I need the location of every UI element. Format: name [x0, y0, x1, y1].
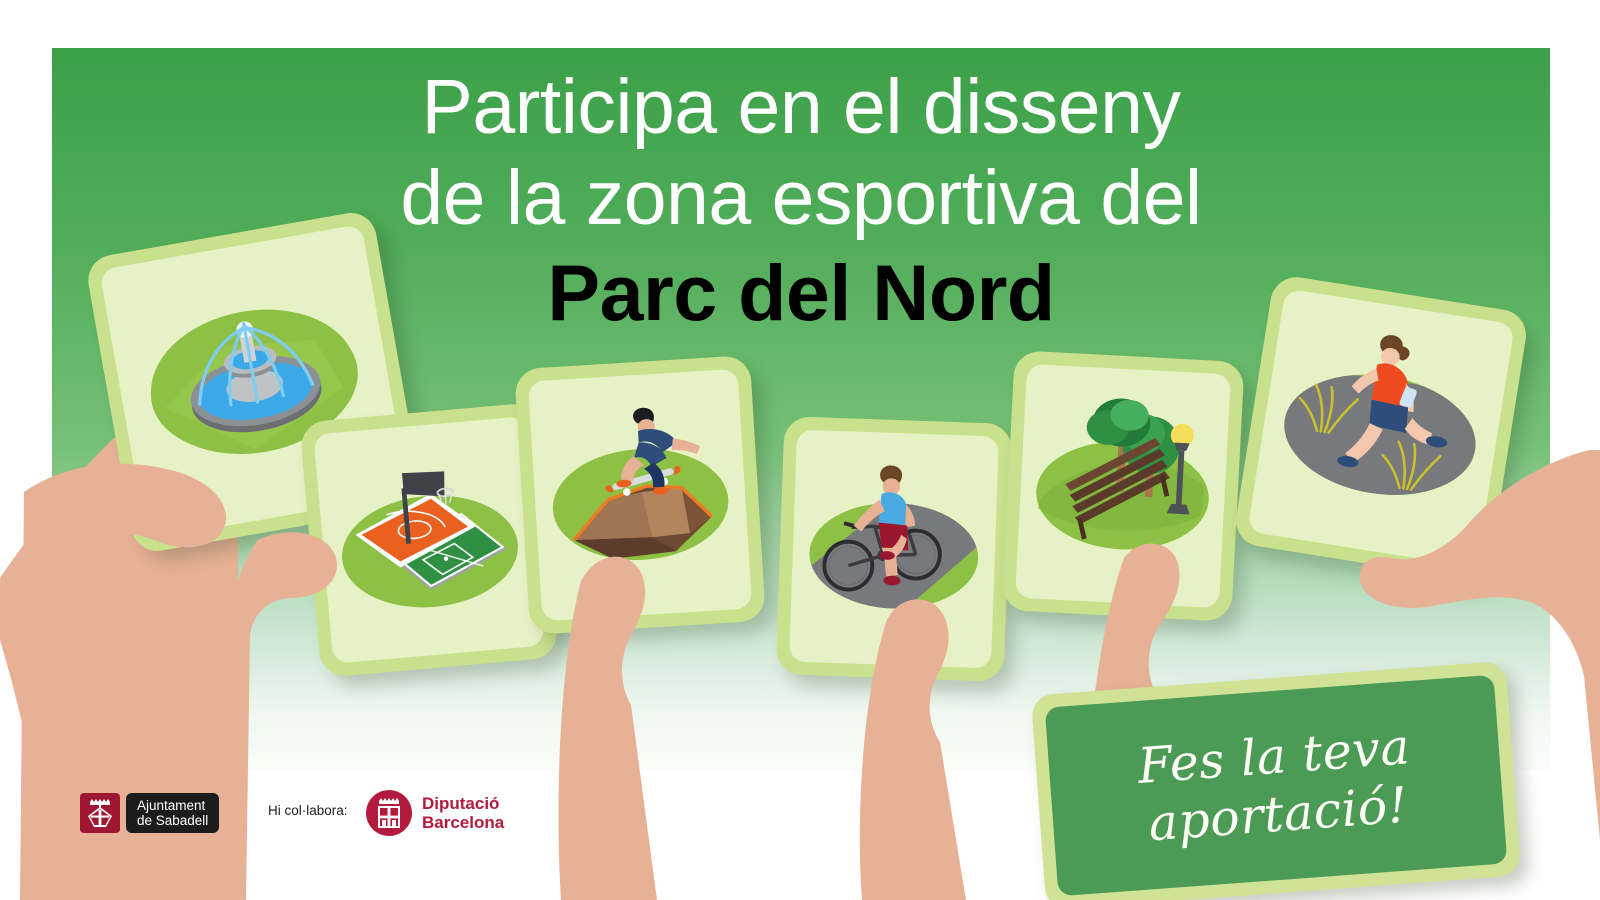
diputacio-crest-icon [366, 790, 412, 836]
diputacio-line-2: Barcelona [422, 813, 504, 832]
poster-canvas: Participa en el disseny de la zona espor… [0, 0, 1600, 900]
diputacio-line-1: Diputació [422, 794, 504, 813]
sabadell-crest-icon [80, 793, 120, 833]
collaborate-label: Hi col·labora: [268, 803, 348, 818]
sabadell-name-box: Ajuntament de Sabadell [126, 793, 219, 833]
logo-diputacio-barcelona[interactable]: Diputació Barcelona [366, 790, 504, 836]
logo-ajuntament-sabadell[interactable]: Ajuntament de Sabadell [80, 793, 219, 833]
sabadell-line-2: de Sabadell [137, 813, 208, 829]
diputacio-name: Diputació Barcelona [422, 794, 504, 832]
footer-logos: Ajuntament de Sabadell Hi col·labora: Di… [0, 780, 1600, 860]
sabadell-line-1: Ajuntament [137, 798, 208, 814]
